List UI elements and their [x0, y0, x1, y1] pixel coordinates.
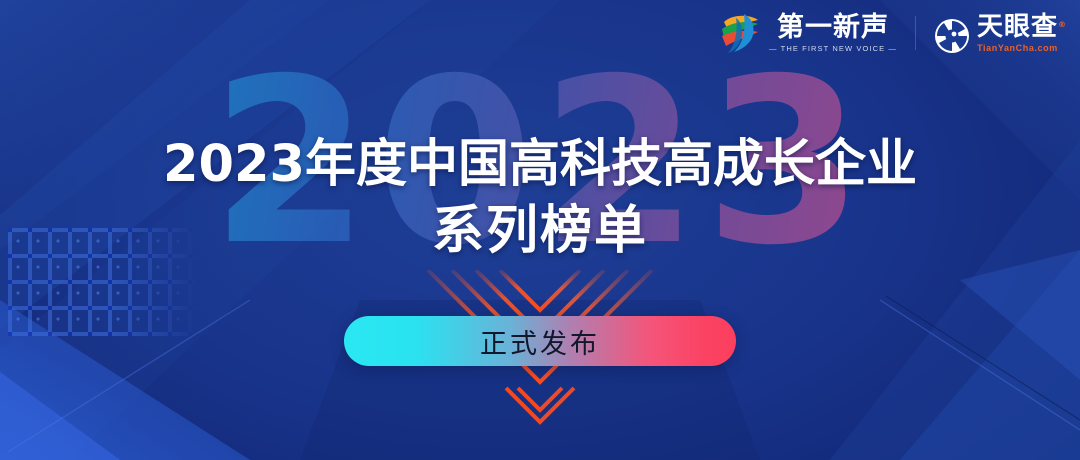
tyc-domain: TianYanCha.com — [977, 42, 1058, 54]
release-badge[interactable]: 正式发布 — [344, 316, 736, 366]
release-badge-label: 正式发布 — [480, 322, 600, 361]
tianyancha-eye-icon — [934, 18, 970, 54]
dyxs-tagline: — THE FIRST NEW VOICE — — [769, 43, 897, 54]
title-line-1: 2023年度中国高科技高成长企业 — [0, 132, 1080, 198]
logo-divider — [915, 16, 916, 50]
title-line-2: 系列榜单 — [0, 198, 1080, 264]
dyxs-ribbon-icon — [718, 12, 762, 54]
tyc-name-cn: 天眼查 ® — [977, 13, 1058, 42]
logo-tianyancha[interactable]: 天眼查 ® TianYanCha.com — [934, 13, 1058, 54]
dyxs-name-cn: 第一新声 — [777, 13, 889, 43]
registered-mark: ® — [1058, 10, 1067, 39]
tyc-name-text: 天眼查 — [977, 12, 1058, 42]
logo-bar: 第一新声 — THE FIRST NEW VOICE — 天眼查 — [718, 12, 1058, 54]
logo-diyixinsheng[interactable]: 第一新声 — THE FIRST NEW VOICE — — [718, 12, 897, 54]
promo-banner: 2023 2023年度中国高科技高成长企业 — [0, 0, 1080, 460]
page-title: 2023年度中国高科技高成长企业 系列榜单 — [0, 132, 1080, 264]
